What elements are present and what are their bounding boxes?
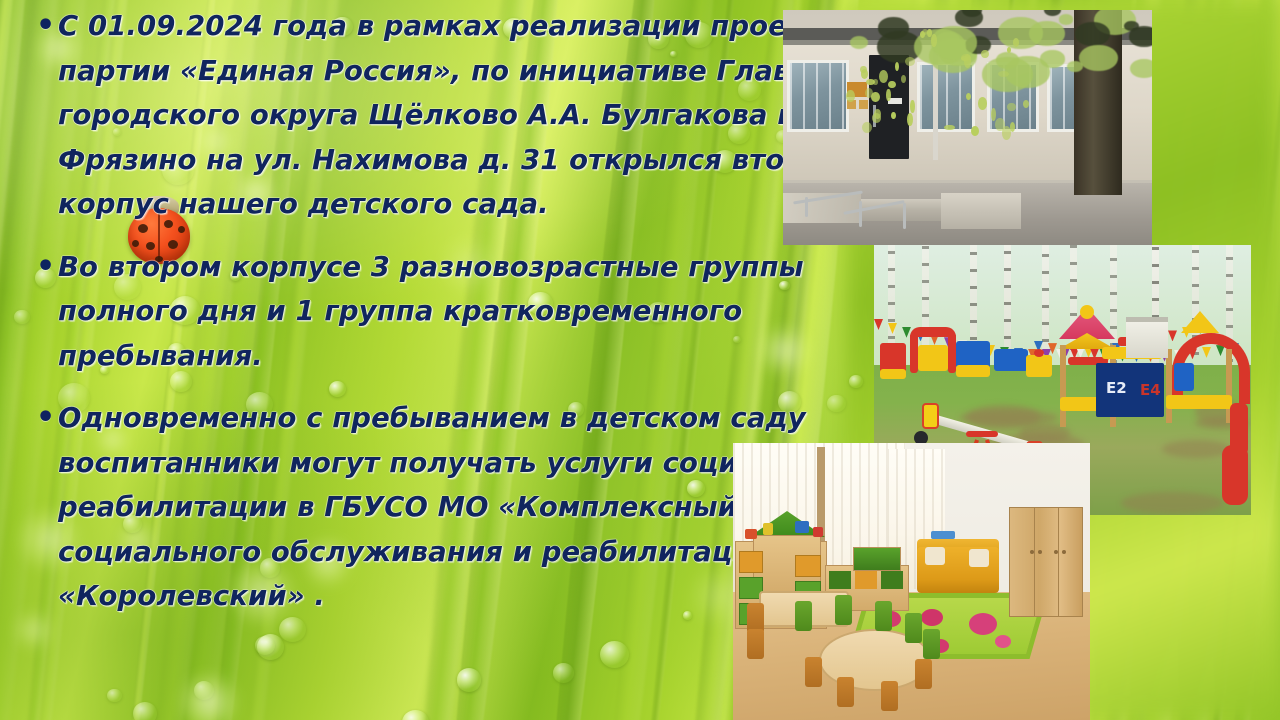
paragraph-2-text: Во втором корпусе 3 разновозрастные груп… (58, 245, 856, 379)
wardrobe-cabinet (1009, 507, 1083, 617)
bullet-marker: • (36, 245, 58, 379)
accessibility-sign-icon (859, 100, 868, 109)
bullet-marker: • (36, 4, 58, 227)
kindergarten-building-entrance-photo (783, 10, 1152, 245)
group-room-interior-photo (733, 443, 1090, 720)
paragraph-1-text: С 01.09.2024 года в рамках реализации пр… (58, 4, 856, 227)
playground-label-e2: E2 (1106, 379, 1127, 397)
playhouse (1126, 317, 1168, 358)
bullet-paragraph-1: • С 01.09.2024 года в рамках реализации … (36, 4, 856, 227)
presentation-slide: • С 01.09.2024 года в рамках реализации … (0, 0, 1280, 720)
bullet-paragraph-2: • Во втором корпусе 3 разновозрастные гр… (36, 245, 856, 379)
playground-label-e4: E4 (1140, 381, 1161, 399)
bullet-marker: • (36, 396, 58, 619)
